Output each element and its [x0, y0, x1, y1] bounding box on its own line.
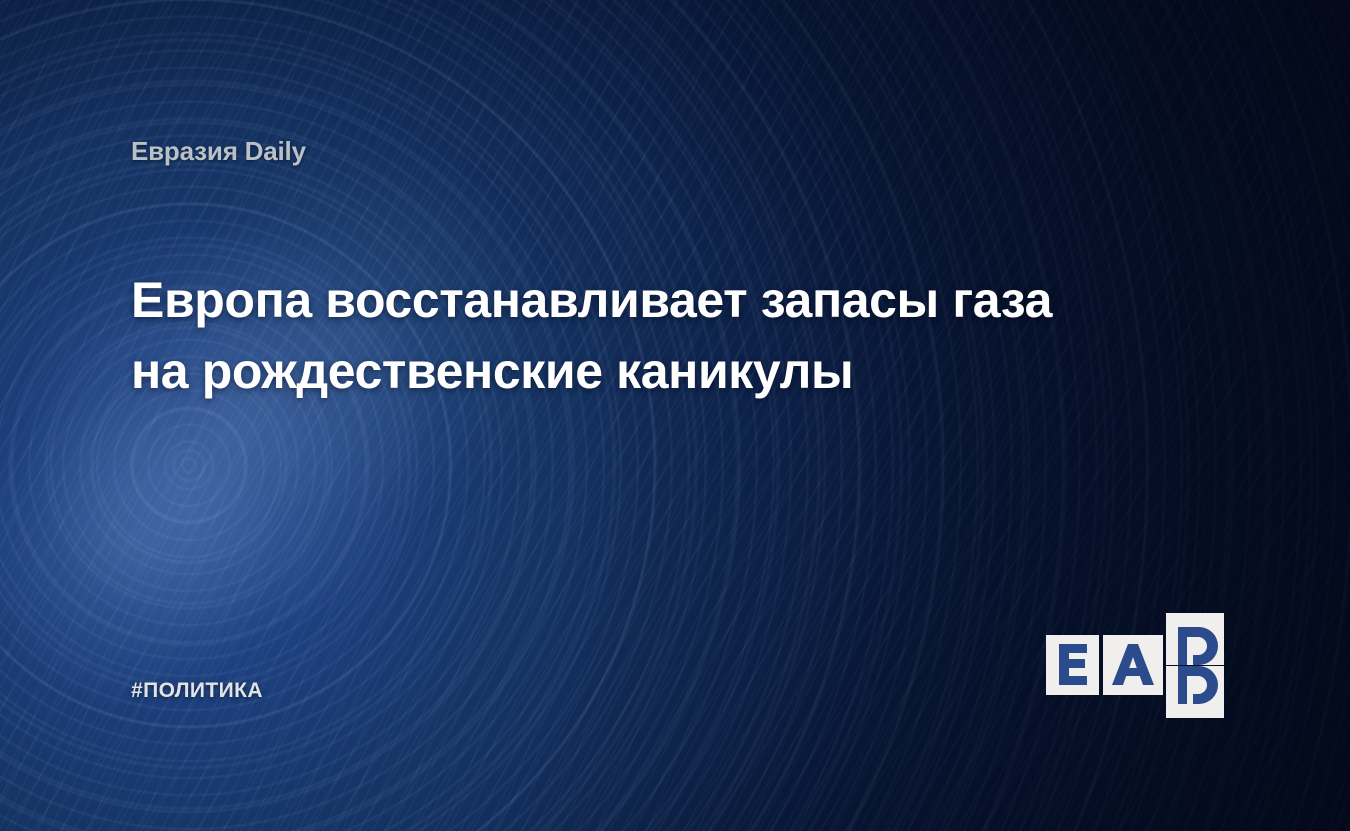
card-content: Евразия Daily Европа восстанавливает зап… — [0, 0, 1350, 831]
news-card: Евразия Daily Европа восстанавливает зап… — [0, 0, 1350, 831]
page-title: Европа восстанавливает запасы газа на ро… — [131, 265, 1161, 407]
logo-letter-e-icon — [1046, 635, 1099, 695]
logo-letter-d-bottom-icon — [1166, 666, 1224, 718]
category-tag[interactable]: #ПОЛИТИКА — [131, 679, 263, 703]
headline-line-2: на рождественские каникулы — [131, 336, 1161, 407]
logo-letter-a-icon — [1103, 635, 1163, 695]
brand-name: Евразия Daily — [131, 136, 306, 167]
ead-logo[interactable] — [1046, 613, 1224, 716]
logo-letter-d-top-icon — [1166, 613, 1224, 665]
headline-line-1: Европа восстанавливает запасы газа — [131, 265, 1161, 336]
